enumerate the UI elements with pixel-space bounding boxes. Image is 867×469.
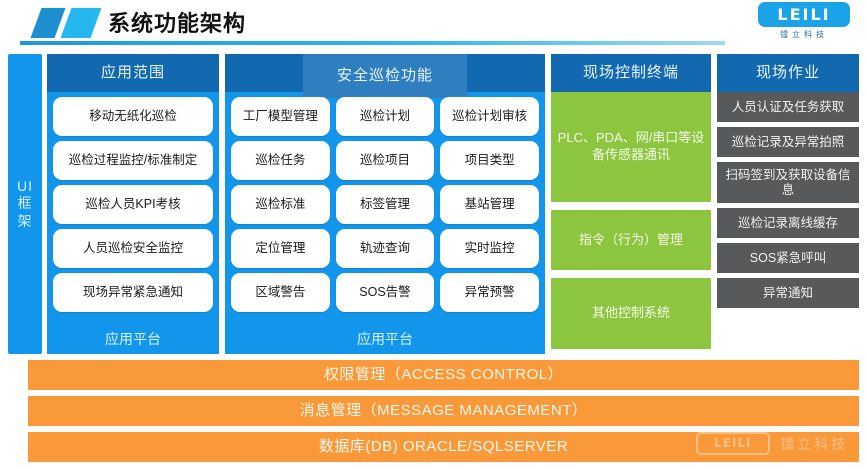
logo-badge-text: LEILI (758, 2, 850, 27)
header-divider (20, 41, 725, 45)
list-item[interactable]: 巡检任务 (231, 141, 330, 180)
bar-database[interactable]: 数据库(DB) ORACLE/SQLSERVER (28, 432, 859, 462)
column-application-scope: 应用范围 移动无纸化巡检 巡检过程监控/标准制定 巡检人员KPI考核 人员巡检安… (47, 54, 219, 354)
architecture-columns: UI框架 应用范围 移动无纸化巡检 巡检过程监控/标准制定 巡检人员KPI考核 … (8, 54, 859, 354)
column-header-application-scope: 应用范围 (47, 54, 219, 92)
list-item[interactable]: 基站管理 (440, 185, 539, 224)
column-body-safety-inspection-functions: 工厂模型管理 巡检计划 巡检计划审核 巡检任务 巡检项目 项目类型 巡检标准 标… (225, 92, 545, 328)
list-item[interactable]: 巡检项目 (336, 141, 435, 180)
column-header-highlight: 安全巡检功能 (303, 54, 467, 98)
list-item[interactable]: 区域警告 (231, 273, 330, 312)
list-item[interactable]: 移动无纸化巡检 (53, 97, 213, 136)
ui-frame-label: UI框架 (17, 178, 33, 231)
list-item[interactable]: 实时监控 (440, 229, 539, 268)
bar-access-control[interactable]: 权限管理（ACCESS CONTROL） (28, 360, 859, 390)
list-item[interactable]: 指令（行为）管理 (551, 210, 711, 270)
header-accent-bar-dark (31, 8, 66, 38)
list-item[interactable]: 工厂模型管理 (231, 97, 330, 136)
list-item[interactable]: 巡检记录离线缓存 (717, 208, 859, 238)
column-safety-inspection-functions: 安全巡检功能 工厂模型管理 巡检计划 巡检计划审核 巡检任务 巡检项目 项目类型… (225, 54, 545, 354)
list-item[interactable]: 巡检记录及异常拍照 (717, 127, 859, 157)
list-item[interactable]: PLC、PDA、网/串口等设备传感器通讯 (551, 92, 711, 202)
list-item[interactable]: 标签管理 (336, 185, 435, 224)
page-title: 系统功能架构 (108, 6, 246, 38)
company-logo: LEILI 镭立科技 (755, 2, 853, 46)
list-item[interactable]: 其他控制系统 (551, 278, 711, 349)
list-item[interactable]: 项目类型 (440, 141, 539, 180)
list-item[interactable]: 异常预警 (440, 273, 539, 312)
column-site-control-terminal: 现场控制终端 PLC、PDA、网/串口等设备传感器通讯 指令（行为）管理 其他控… (551, 54, 711, 349)
slide-header: 系统功能架构 LEILI 镭立科技 (0, 0, 867, 52)
list-item[interactable]: 巡检人员KPI考核 (53, 185, 213, 224)
list-item[interactable]: 巡检标准 (231, 185, 330, 224)
foundation-bars: 权限管理（ACCESS CONTROL） 消息管理（MESSAGE MANAGE… (28, 360, 859, 468)
function-grid: 工厂模型管理 巡检计划 巡检计划审核 巡检任务 巡检项目 项目类型 巡检标准 标… (231, 97, 539, 312)
list-item[interactable]: 人员巡检安全监控 (53, 229, 213, 268)
list-item[interactable]: 巡检计划 (336, 97, 435, 136)
list-item[interactable]: 定位管理 (231, 229, 330, 268)
column-footer-safety-inspection-functions: 应用平台 (225, 328, 545, 354)
list-item[interactable]: 扫码签到及获取设备信息 (717, 162, 859, 203)
list-item[interactable]: 现场异常紧急通知 (53, 273, 213, 312)
column-body-field-operations: 人员认证及任务获取 巡检记录及异常拍照 扫码签到及获取设备信息 巡检记录离线缓存… (717, 92, 859, 349)
list-item[interactable]: 巡检过程监控/标准制定 (53, 141, 213, 180)
header-accent-bar-light (61, 8, 102, 38)
column-body-application-scope: 移动无纸化巡检 巡检过程监控/标准制定 巡检人员KPI考核 人员巡检安全监控 现… (47, 92, 219, 328)
list-item[interactable]: 轨迹查询 (336, 229, 435, 268)
column-field-operations: 现场作业 人员认证及任务获取 巡检记录及异常拍照 扫码签到及获取设备信息 巡检记… (717, 54, 859, 349)
slide-canvas: 系统功能架构 LEILI 镭立科技 UI框架 应用范围 移动无纸化巡检 巡检过程… (0, 0, 867, 469)
list-item[interactable]: 人员认证及任务获取 (717, 92, 859, 122)
list-item[interactable]: SOS紧急呼叫 (717, 243, 859, 273)
list-item[interactable]: 异常通知 (717, 278, 859, 308)
column-footer-application-scope: 应用平台 (47, 328, 219, 354)
architecture-board: UI框架 应用范围 移动无纸化巡检 巡检过程监控/标准制定 巡检人员KPI考核 … (8, 54, 859, 462)
logo-subtitle: 镭立科技 (755, 29, 853, 40)
list-item[interactable]: SOS告警 (336, 273, 435, 312)
bar-message-management[interactable]: 消息管理（MESSAGE MANAGEMENT） (28, 396, 859, 426)
column-body-site-control-terminal: PLC、PDA、网/串口等设备传感器通讯 指令（行为）管理 其他控制系统 (551, 92, 711, 349)
list-item[interactable]: 巡检计划审核 (440, 97, 539, 136)
column-header-field-operations: 现场作业 (717, 54, 859, 92)
ui-frame-column: UI框架 (8, 54, 42, 354)
column-header-site-control-terminal: 现场控制终端 (551, 54, 711, 92)
column-header-safety-inspection-functions: 安全巡检功能 (225, 54, 545, 92)
